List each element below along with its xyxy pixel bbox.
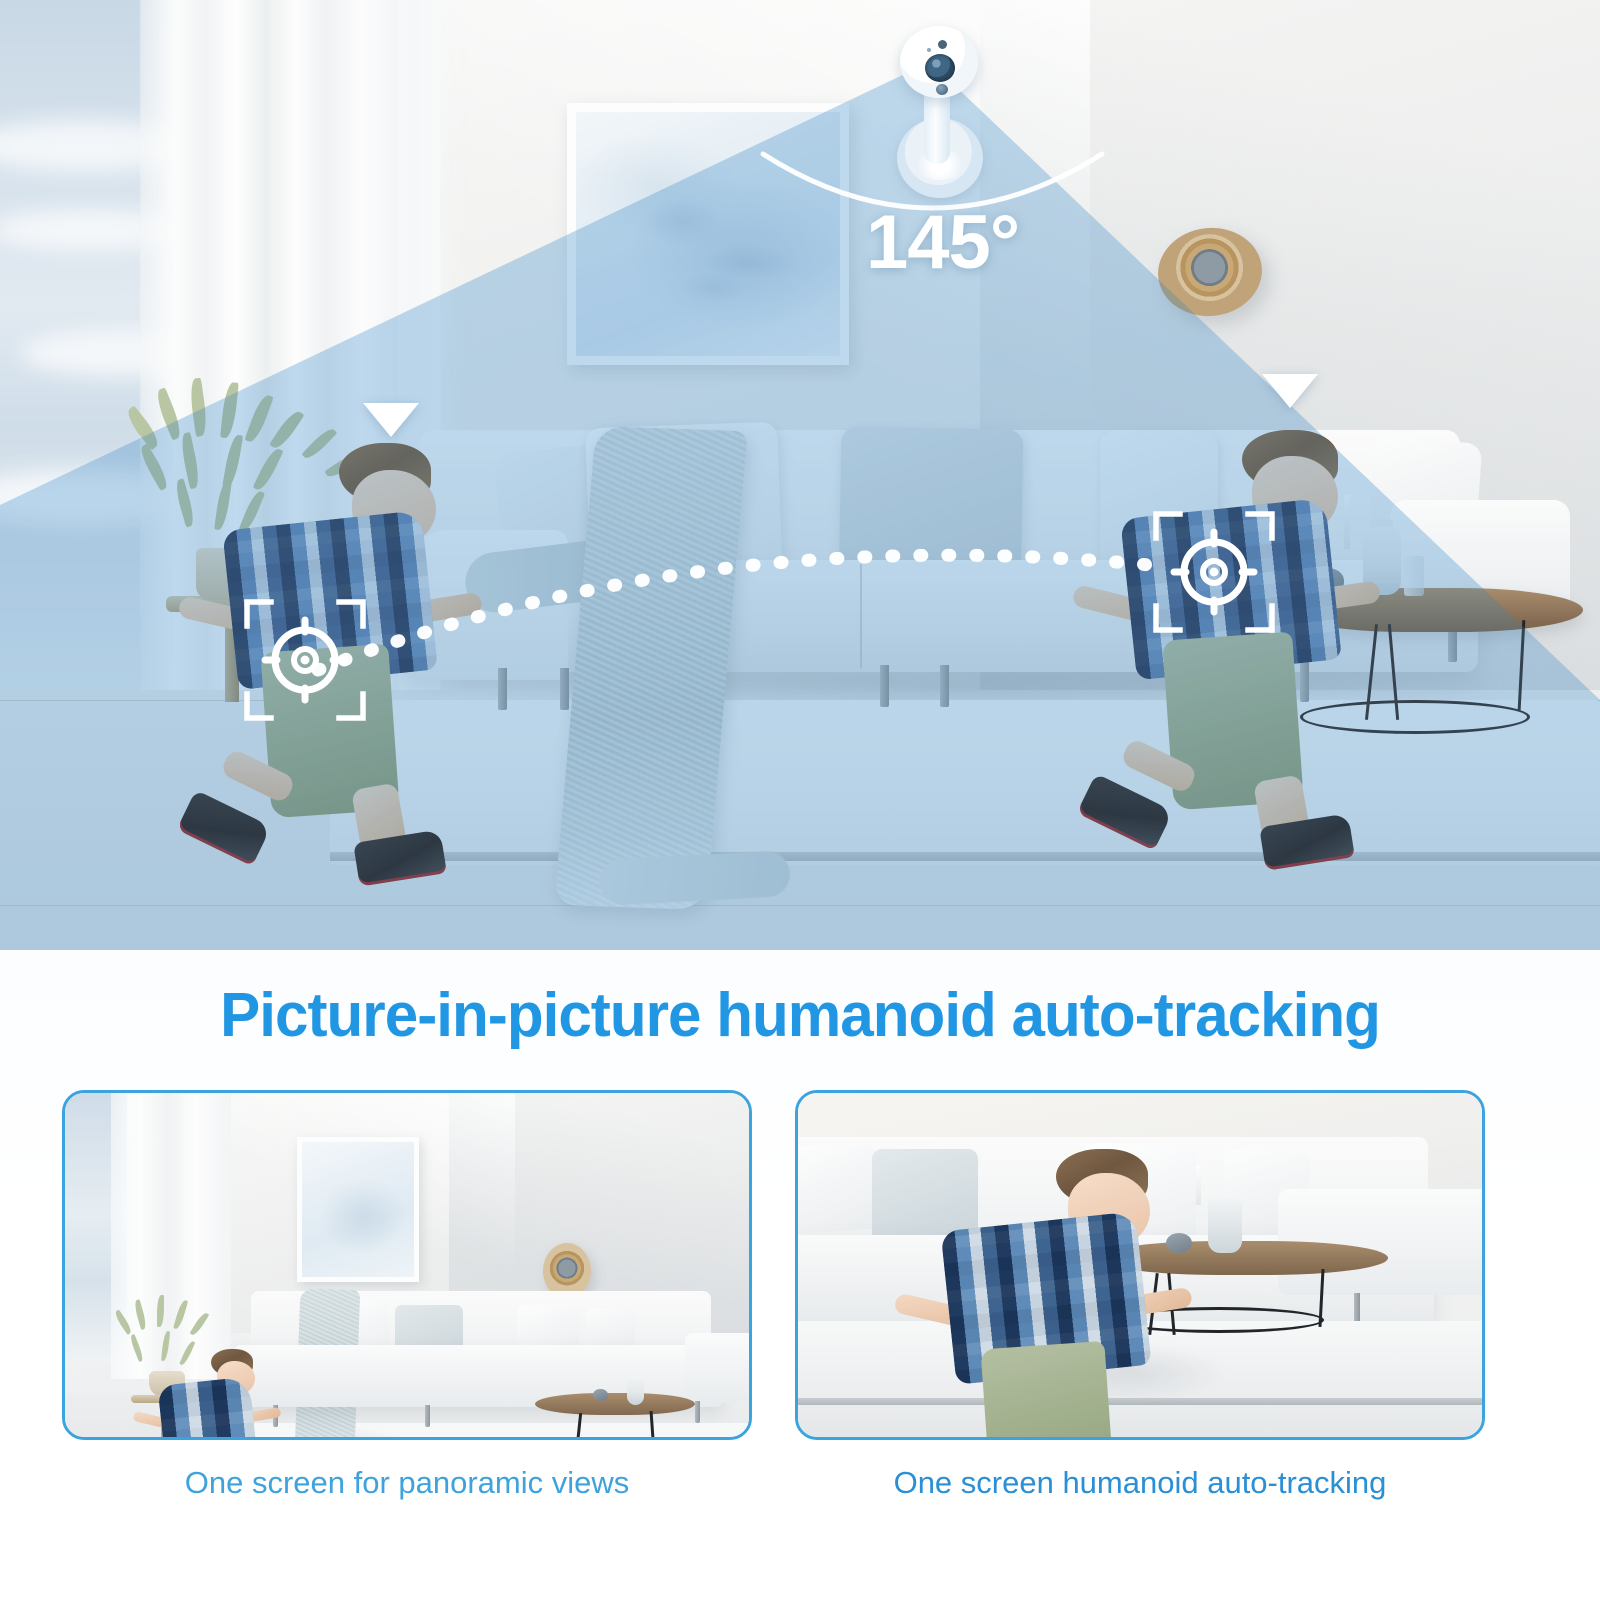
decorative-stone bbox=[593, 1389, 608, 1401]
hero-scene: 145° bbox=[0, 0, 1600, 950]
candle bbox=[1344, 495, 1350, 549]
panoramic-room-thumbnail bbox=[65, 1093, 749, 1437]
glass-candle-holder bbox=[1404, 556, 1424, 596]
panel-caption-panoramic: One screen for panoramic views bbox=[62, 1465, 752, 1501]
ceramic-vase bbox=[627, 1375, 644, 1405]
table-base-ring bbox=[1300, 700, 1530, 734]
candle bbox=[1196, 1165, 1201, 1205]
camera-led-icon bbox=[927, 48, 931, 52]
framed-artwork bbox=[297, 1137, 419, 1282]
rug-edge bbox=[330, 852, 1600, 861]
camera-microphone-icon bbox=[936, 84, 948, 95]
panel-panoramic-view[interactable] bbox=[62, 1090, 752, 1440]
auto-tracking-thumbnail bbox=[798, 1093, 1482, 1437]
camera-sensor-icon bbox=[938, 40, 947, 49]
position-marker-triangle-icon bbox=[363, 403, 419, 437]
sofa-chaise bbox=[685, 1333, 752, 1403]
framed-artwork bbox=[567, 103, 849, 365]
position-marker-triangle-icon bbox=[1262, 374, 1318, 408]
area-rug bbox=[185, 1423, 752, 1440]
panel-caption-auto-tracking: One screen humanoid auto-tracking bbox=[795, 1465, 1485, 1501]
panel-auto-tracking-view[interactable] bbox=[795, 1090, 1485, 1440]
field-of-view-angle-label: 145° bbox=[866, 205, 1019, 281]
camera-lens-icon bbox=[925, 54, 955, 82]
feature-section: Picture-in-picture humanoid auto-trackin… bbox=[0, 950, 1600, 1600]
section-headline: Picture-in-picture humanoid auto-trackin… bbox=[24, 980, 1576, 1051]
oval-coffee-table bbox=[535, 1393, 695, 1415]
decorative-stone bbox=[1166, 1233, 1192, 1253]
ceramic-vase bbox=[1208, 1197, 1242, 1253]
